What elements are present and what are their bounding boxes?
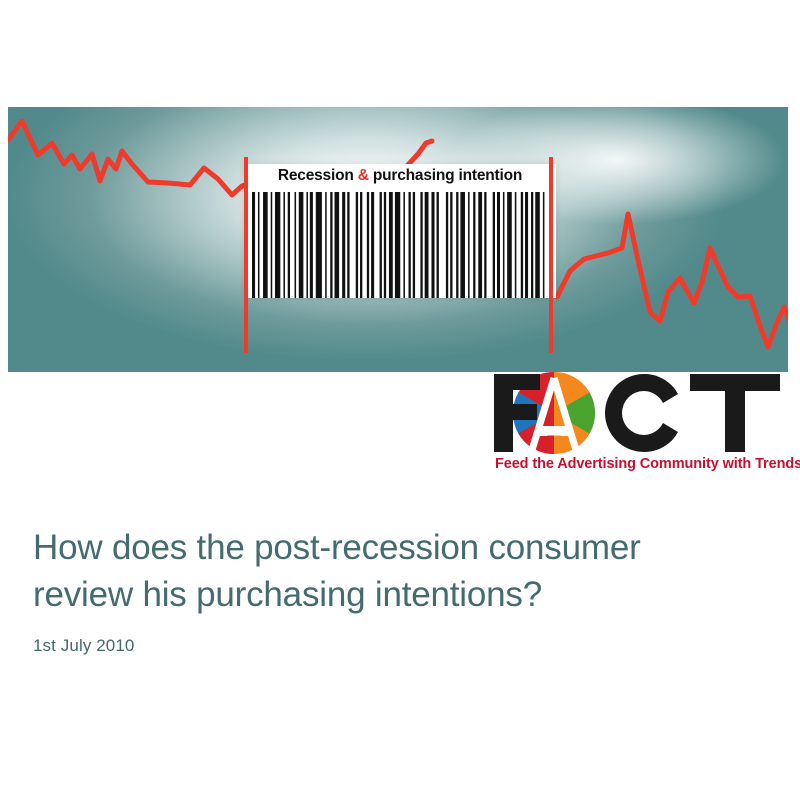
page-title-line-2: review his purchasing intentions? xyxy=(33,575,542,614)
fact-logo-letter-c xyxy=(605,374,692,452)
fact-logo-letter-t xyxy=(690,374,780,452)
publication-date: 1st July 2010 xyxy=(33,636,763,656)
fact-logo: Feed the Advertising Community with Tren… xyxy=(492,372,792,482)
title-block: How does the post-recession consumer rev… xyxy=(33,524,763,656)
fact-logo-tagline: Feed the Advertising Community with Tren… xyxy=(495,456,792,472)
page-title: How does the post-recession consumer rev… xyxy=(33,524,763,618)
page-title-line-1: How does the post-recession consumer xyxy=(33,528,641,567)
recession-banner: Recession & purchasing intention xyxy=(8,107,788,372)
barcode-red-guards xyxy=(8,107,788,372)
